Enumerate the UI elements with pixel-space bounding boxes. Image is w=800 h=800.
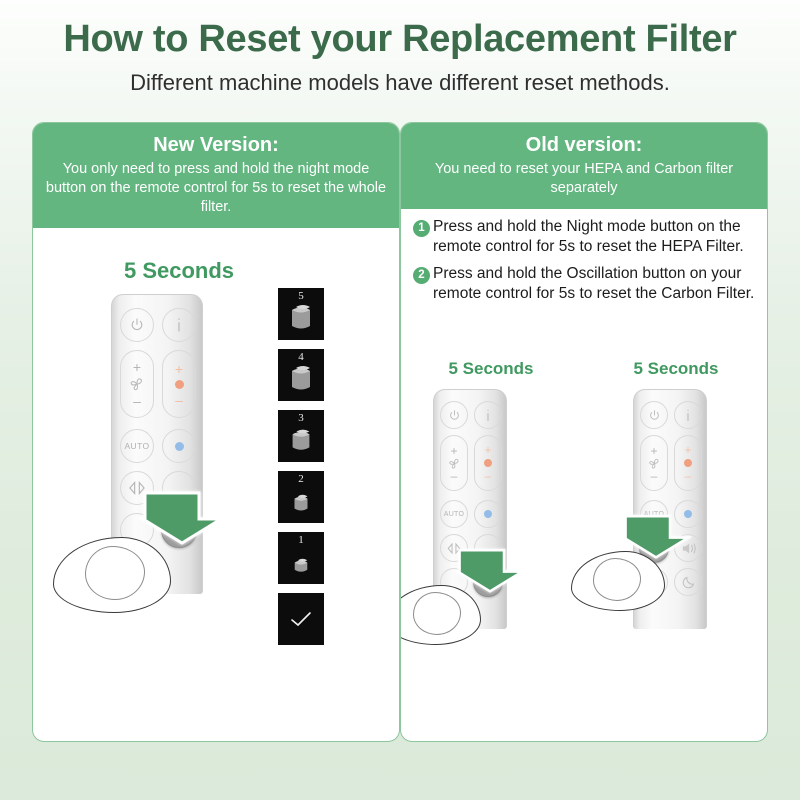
old-version-panel: Old version: You need to reset your HEPA… <box>400 122 768 742</box>
fan-icon <box>128 376 146 392</box>
humidity-button[interactable] <box>162 429 196 463</box>
remote-carbon-reset: + – + – <box>633 389 707 629</box>
auto-label: AUTO <box>124 441 149 451</box>
temp-plus-label: + <box>684 444 691 456</box>
panels-container: New Version: You only need to press and … <box>0 122 800 742</box>
new-version-description: You only need to press and hold the nigh… <box>45 160 387 217</box>
info-button[interactable] <box>162 308 196 342</box>
power-button[interactable] <box>120 308 154 342</box>
new-version-header: New Version: You only need to press and … <box>33 123 399 228</box>
fan-minus-label: – <box>133 394 141 408</box>
step-text: Press and hold the Oscillation button on… <box>433 264 755 304</box>
humidity-dot-icon <box>484 510 492 518</box>
check-icon <box>288 609 314 629</box>
humidity-dot-icon <box>175 442 184 451</box>
page-title: How to Reset your Replacement Filter <box>0 18 800 62</box>
fan-speed-button[interactable]: + – <box>640 435 668 491</box>
remote-new-version: + – + – <box>111 294 203 594</box>
old-version-header: Old version: You need to reset your HEPA… <box>401 123 767 209</box>
press-arrow-icon <box>137 489 227 545</box>
countdown-number: 3 <box>298 412 304 424</box>
fan-icon <box>447 457 462 470</box>
step-badge: 2 <box>413 267 430 284</box>
countdown-cell: 3 <box>278 410 324 462</box>
info-icon <box>173 315 185 335</box>
filter-icon <box>286 361 316 393</box>
temp-minus-label: – <box>685 470 692 482</box>
power-icon <box>448 409 461 422</box>
power-button[interactable] <box>440 401 468 429</box>
info-button[interactable] <box>674 401 702 429</box>
old-version-description: You need to reset your HEPA and Carbon f… <box>413 160 755 198</box>
power-icon <box>129 317 145 333</box>
humidity-button[interactable] <box>474 500 502 528</box>
old-version-title: Old version: <box>413 132 755 158</box>
step-item: 1 Press and hold the Night mode button o… <box>413 217 755 257</box>
temp-plus-label: + <box>175 362 183 376</box>
old-version-body: 1 Press and hold the Night mode button o… <box>401 209 767 742</box>
temperature-dot-icon <box>684 459 692 467</box>
fan-speed-button[interactable]: + – <box>120 350 154 418</box>
auto-label: AUTO <box>444 511 465 518</box>
night-mode-button[interactable] <box>674 568 702 596</box>
fan-speed-button[interactable]: + – <box>440 435 468 491</box>
temperature-button[interactable]: + – <box>674 435 702 491</box>
page-subtitle: Different machine models have different … <box>0 70 800 96</box>
fan-plus-label: + <box>450 445 457 457</box>
fan-plus-label: + <box>650 445 657 457</box>
power-icon <box>648 409 661 422</box>
info-button[interactable] <box>474 401 502 429</box>
steps-list: 1 Press and hold the Night mode button o… <box>401 209 767 303</box>
seconds-label-new: 5 Seconds <box>79 258 279 284</box>
filter-icon <box>287 424 315 454</box>
countdown-cell: 5 <box>278 288 324 340</box>
fan-minus-label: – <box>651 470 658 482</box>
temperature-button[interactable]: + – <box>162 350 196 418</box>
new-version-body: 5 Seconds <box>33 228 399 742</box>
temperature-dot-icon <box>484 459 492 467</box>
filter-icon <box>286 300 316 332</box>
page-header: How to Reset your Replacement Filter Dif… <box>0 0 800 96</box>
new-version-title: New Version: <box>45 132 387 158</box>
filter-icon <box>288 489 314 515</box>
temperature-dot-icon <box>175 380 184 389</box>
auto-button[interactable]: AUTO <box>440 500 468 528</box>
step-badge: 1 <box>413 220 430 237</box>
countdown-number: 1 <box>298 534 304 546</box>
remote-hepa-reset: + – + – <box>433 389 507 629</box>
countdown-complete-cell <box>278 593 324 645</box>
countdown-cell: 2 <box>278 471 324 523</box>
moon-icon <box>681 575 696 590</box>
filter-icon <box>288 554 314 576</box>
temp-minus-label: – <box>485 470 492 482</box>
temperature-button[interactable]: + – <box>474 435 502 491</box>
fan-plus-label: + <box>133 360 141 374</box>
temp-plus-label: + <box>484 444 491 456</box>
press-arrow-icon <box>453 547 527 593</box>
info-icon <box>683 407 693 424</box>
step-item: 2 Press and hold the Oscillation button … <box>413 264 755 304</box>
infographic-page: How to Reset your Replacement Filter Dif… <box>0 0 800 800</box>
countdown-number: 2 <box>298 473 304 485</box>
countdown-cell: 1 <box>278 532 324 584</box>
auto-button[interactable]: AUTO <box>120 429 154 463</box>
fan-icon <box>647 457 662 470</box>
seconds-label-carbon: 5 Seconds <box>596 359 756 379</box>
seconds-label-hepa: 5 Seconds <box>411 359 571 379</box>
step-text: Press and hold the Night mode button on … <box>433 217 755 257</box>
countdown-cell: 4 <box>278 349 324 401</box>
fan-minus-label: – <box>451 470 458 482</box>
new-version-panel: New Version: You only need to press and … <box>32 122 400 742</box>
press-arrow-icon <box>619 513 693 559</box>
power-button[interactable] <box>640 401 668 429</box>
filter-countdown-strip: 5 4 <box>278 288 324 654</box>
temp-minus-label: – <box>175 393 183 407</box>
info-icon <box>483 407 493 424</box>
